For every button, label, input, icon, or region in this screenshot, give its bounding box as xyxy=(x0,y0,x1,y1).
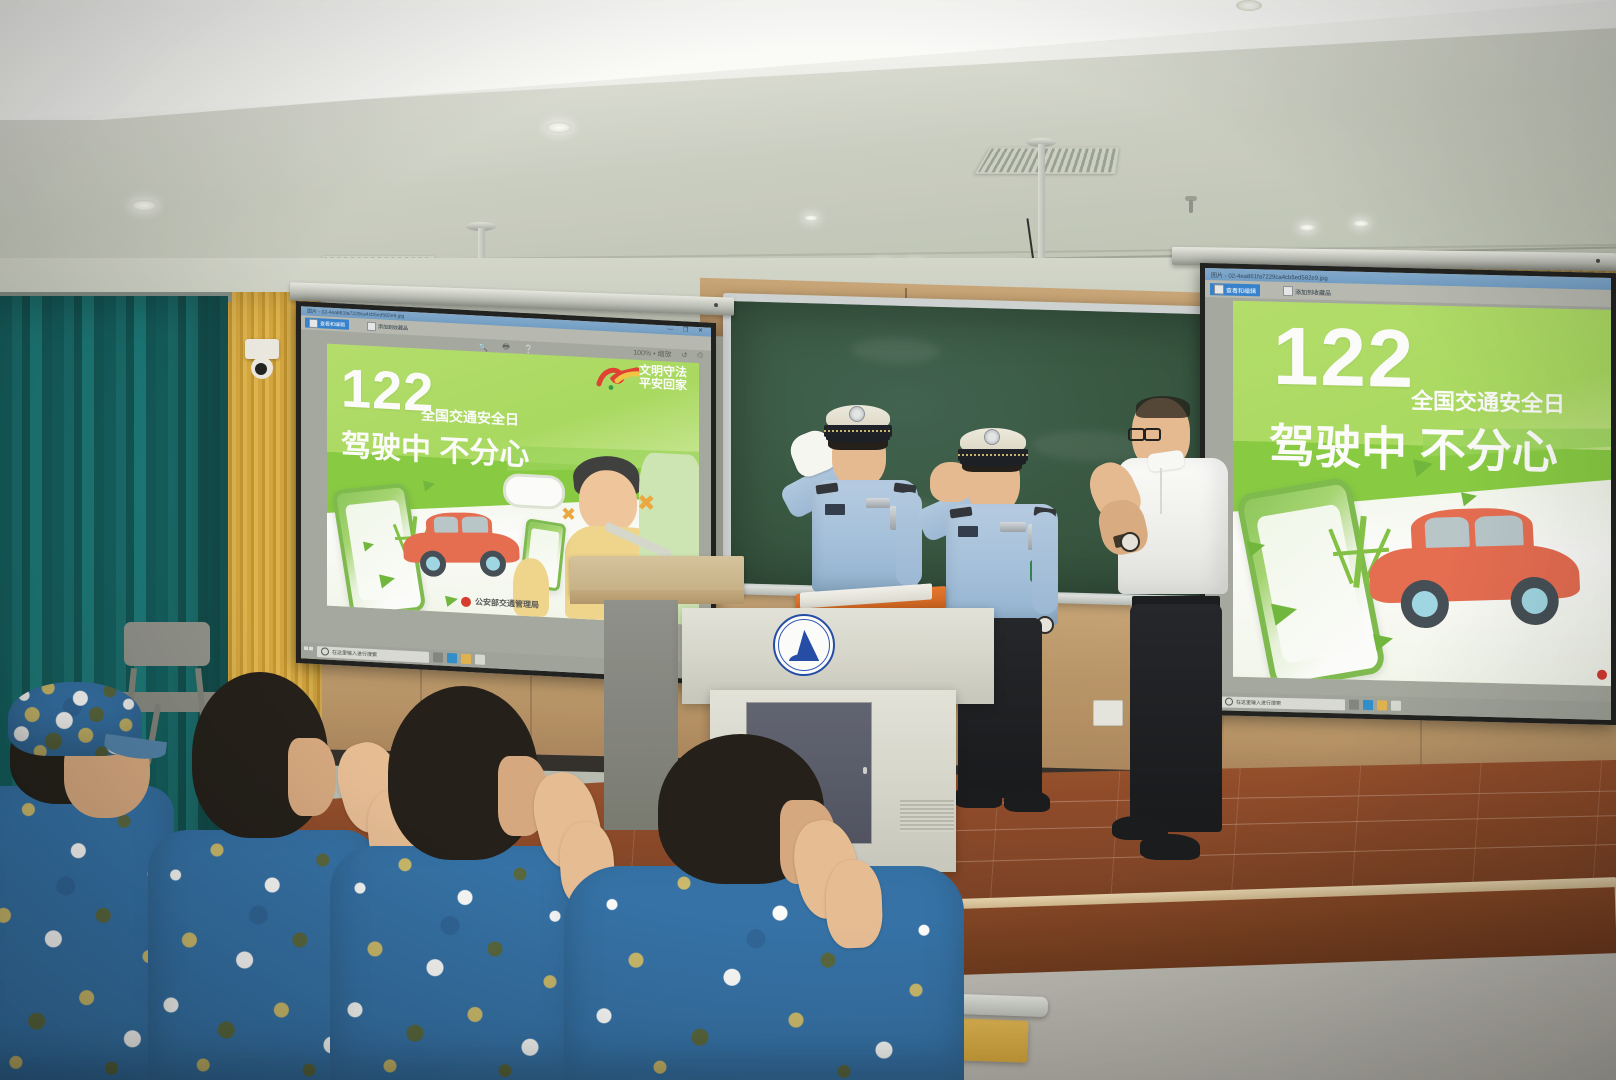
downlight-icon xyxy=(1353,220,1369,227)
national-emblem-seal-icon xyxy=(461,596,471,607)
police-cap-badge-icon xyxy=(849,406,865,422)
car-illustration xyxy=(401,511,520,579)
downlight-icon xyxy=(131,200,157,211)
shoe xyxy=(954,786,1002,808)
national-emblem-seal-icon xyxy=(1597,670,1607,680)
ribbon-button-view-edit[interactable]: 查看和编辑 xyxy=(305,317,349,329)
add-icon xyxy=(367,321,376,330)
downlight-icon xyxy=(1236,0,1262,11)
taskbar-search-input[interactable]: 在这里输入进行搜索 xyxy=(317,646,429,663)
name-patch xyxy=(958,526,978,537)
poster-footer xyxy=(1597,670,1607,680)
picture-icon xyxy=(309,318,318,327)
downlight-icon xyxy=(1299,224,1315,231)
name-patch xyxy=(825,504,845,515)
edge-icon[interactable] xyxy=(1363,700,1373,710)
sprinkler-head-icon xyxy=(1183,196,1199,214)
task-view-icon[interactable] xyxy=(433,652,443,663)
wristwatch xyxy=(1120,532,1140,552)
polo-placket xyxy=(1160,468,1162,514)
poster-logo-text: 文明守法 平安回家 xyxy=(639,364,687,393)
search-icon xyxy=(321,647,329,655)
traffic-safety-poster: 122 全国交通安全日 驾驶中 不分心 xyxy=(1233,301,1611,686)
poster-logo-line2: 平安回家 xyxy=(639,377,687,393)
ribbon-button-add-favorite[interactable]: 添加到收藏品 xyxy=(1279,285,1335,298)
camo-uniform xyxy=(330,846,580,1080)
x-mark-icon: ✖ xyxy=(561,504,576,526)
clapping-hand xyxy=(824,859,883,949)
task-view-icon[interactable] xyxy=(1349,700,1359,710)
shoe xyxy=(1140,834,1200,860)
officer-arm xyxy=(1032,512,1058,614)
chest-badge xyxy=(866,498,890,508)
taskbar-search-input[interactable]: 在这里输入进行搜索 xyxy=(1221,696,1345,710)
speech-bubble-illustration xyxy=(503,473,565,510)
downlight-icon xyxy=(804,215,818,221)
photos-icon[interactable] xyxy=(1391,701,1401,711)
taskbar-search-placeholder: 在这里输入进行搜索 xyxy=(332,648,377,657)
print-icon[interactable]: ⎙ xyxy=(697,352,703,360)
right-screen-desktop[interactable]: 图片 - 02-4ea861fa7229ca4cb5ed582e9.jpg 查看… xyxy=(1205,268,1611,720)
shoe xyxy=(1004,790,1050,812)
edge-icon[interactable] xyxy=(447,653,457,664)
police-cap-peak xyxy=(960,459,1026,467)
ribbon-button-view-edit[interactable]: 查看和编辑 xyxy=(1210,283,1260,296)
help-icon[interactable]: ❔ xyxy=(524,344,534,354)
file-explorer-icon[interactable] xyxy=(461,654,471,665)
presenter-trousers xyxy=(1130,604,1222,832)
student-ear-neck xyxy=(288,738,336,816)
rotate-icon[interactable]: ↺ xyxy=(682,351,688,359)
car-illustration xyxy=(1366,504,1582,634)
122-ribbon-logo-icon xyxy=(595,364,639,392)
picture-icon xyxy=(1214,284,1224,294)
photos-icon[interactable] xyxy=(475,654,485,665)
school-crest-emblem-icon xyxy=(773,614,835,676)
camo-uniform xyxy=(564,866,964,1080)
power-outlet-icon xyxy=(1093,700,1123,726)
presenter-hair xyxy=(1136,396,1190,418)
x-mark-icon: ✖ xyxy=(637,490,655,517)
search-icon xyxy=(1225,698,1233,706)
add-icon xyxy=(1283,286,1293,296)
poster-number: 122 xyxy=(1273,320,1415,397)
police-cap-peak xyxy=(826,435,890,443)
poster-slogan: 驾驶中 不分心 xyxy=(1269,410,1558,483)
taskbar-search-placeholder: 在这里输入进行搜索 xyxy=(1236,698,1281,706)
officer-arm xyxy=(896,492,922,586)
air-vent-icon xyxy=(975,147,1119,173)
chest-badge xyxy=(1000,522,1026,532)
search-icon[interactable]: 🔍 xyxy=(478,342,488,352)
lectern-vent xyxy=(900,800,954,832)
downlight-icon xyxy=(546,122,572,133)
classroom-photo-scene: 图片 - 02-4ea861fa7229ca4cb5ed582e9.jpg — … xyxy=(0,0,1616,1080)
police-cap-badge-icon xyxy=(984,429,1000,445)
start-icon[interactable] xyxy=(304,646,313,655)
file-explorer-icon[interactable] xyxy=(1377,700,1387,710)
ribbon-button-add-favorite[interactable]: 添加到收藏品 xyxy=(363,321,412,334)
right-projection-screen[interactable]: 图片 - 02-4ea861fa7229ca4cb5ed582e9.jpg 查看… xyxy=(1200,263,1616,725)
zoom-label[interactable]: 100% • 缩放 xyxy=(633,348,671,360)
